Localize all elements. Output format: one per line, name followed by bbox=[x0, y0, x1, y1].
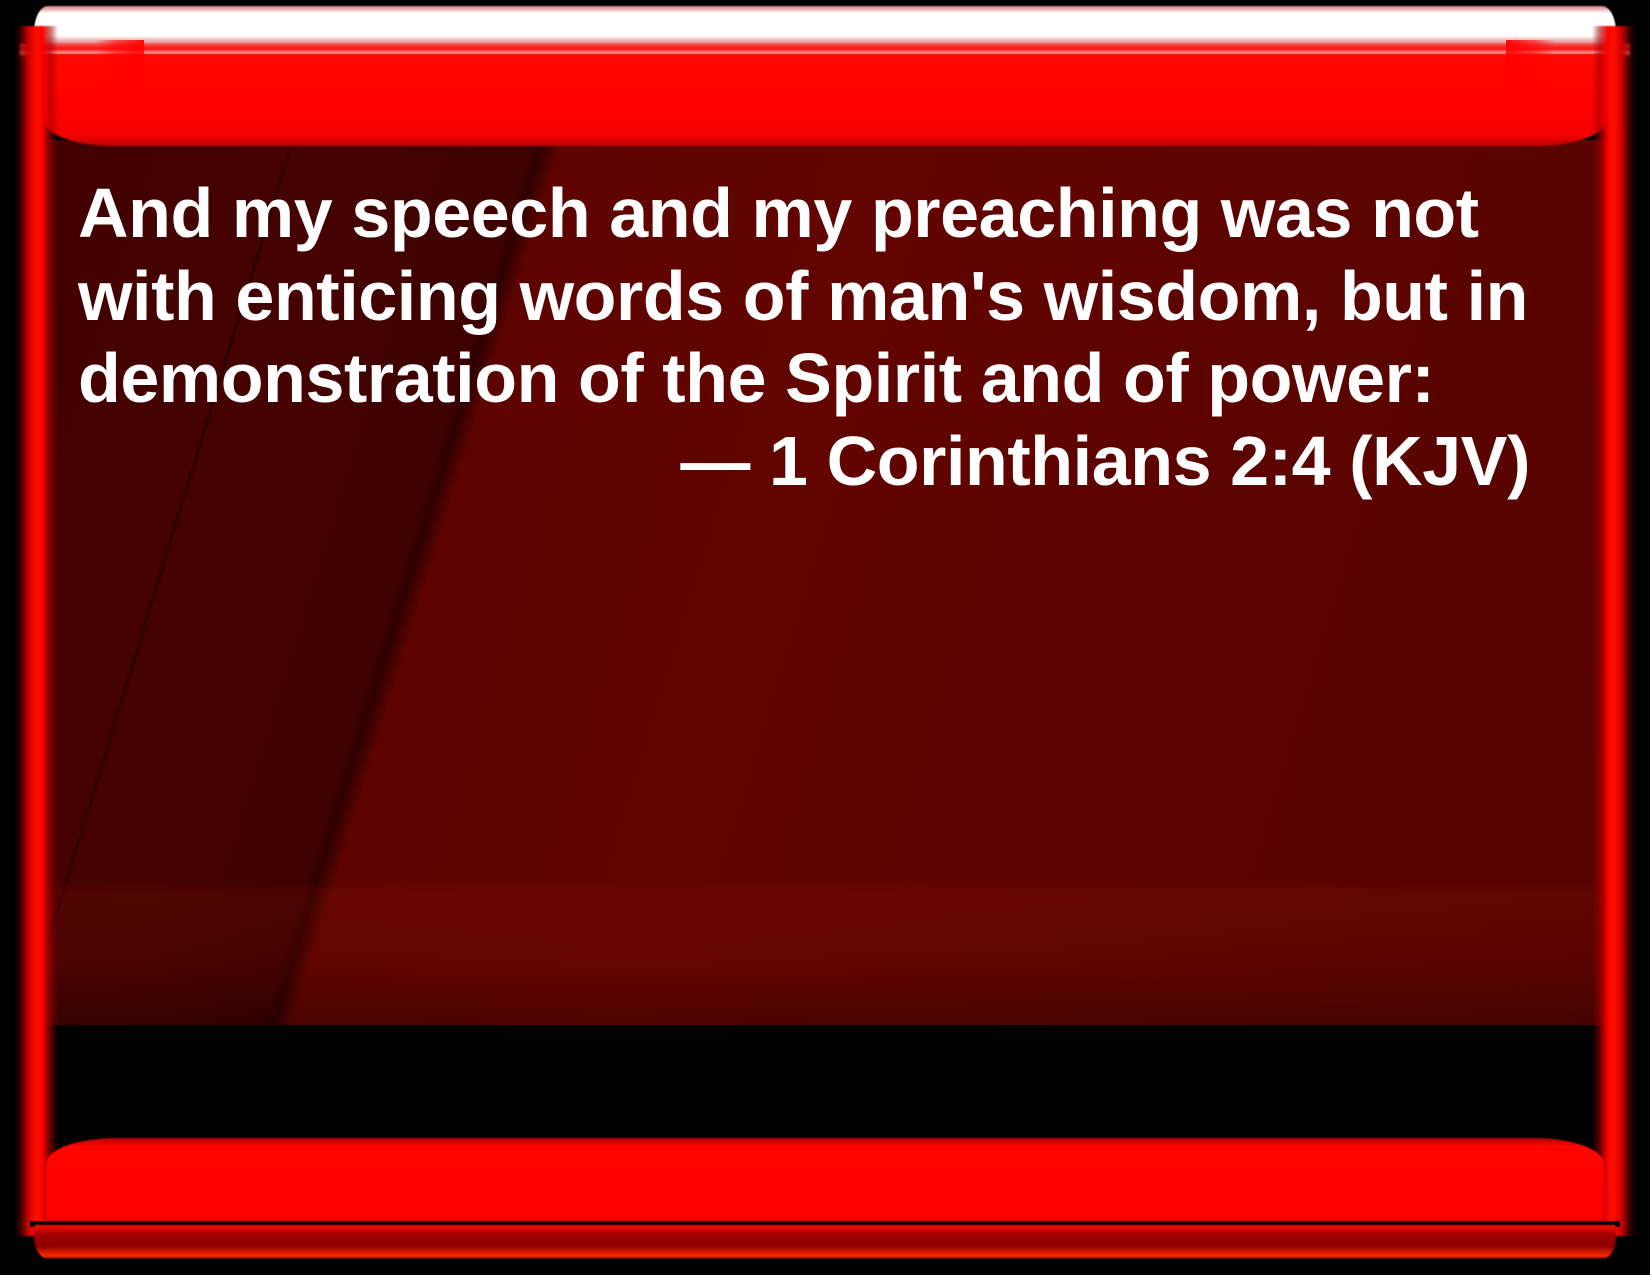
top-red-band bbox=[44, 54, 1606, 146]
bottom-dark-red-band bbox=[34, 1225, 1616, 1259]
left-red-rail bbox=[14, 26, 58, 1236]
bottom-red-band bbox=[46, 1138, 1604, 1222]
verse-line-1: And my speech and my preaching was not bbox=[78, 172, 1538, 255]
verse-text-block: And my speech and my preaching was not w… bbox=[78, 172, 1538, 502]
top-white-highlight-bar bbox=[34, 6, 1616, 46]
verse-line-3: demonstration of the Spirit and of power… bbox=[78, 337, 1538, 420]
bottom-black-edge bbox=[0, 1259, 1650, 1275]
scripture-slide: And my speech and my preaching was not w… bbox=[0, 0, 1650, 1275]
verse-line-2: with enticing words of man's wisdom, but… bbox=[78, 255, 1538, 338]
verse-reference: — 1 Corinthians 2:4 (KJV) bbox=[78, 420, 1538, 503]
right-red-rail bbox=[1592, 26, 1636, 1236]
